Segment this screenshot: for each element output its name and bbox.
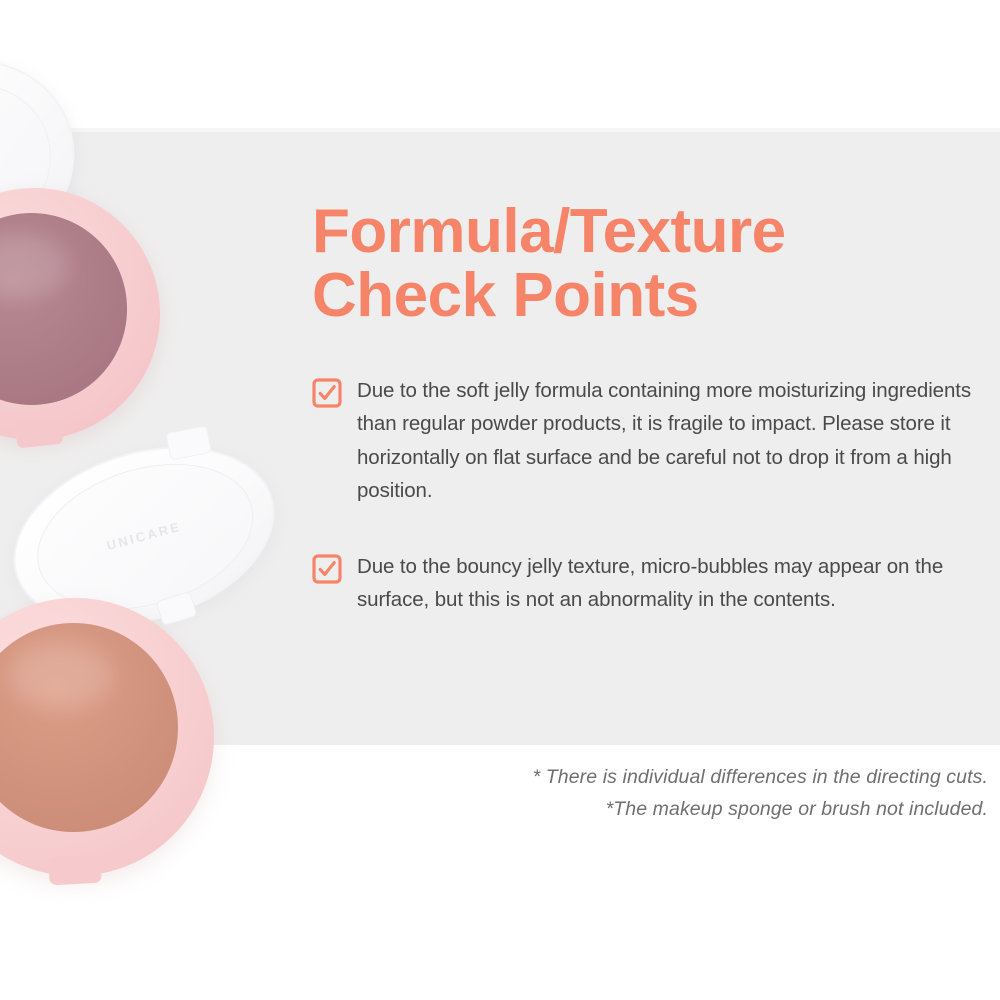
list-item-label: Due to the soft jelly formula containing…	[357, 374, 988, 508]
compact-hinge-notch	[48, 855, 101, 886]
checkbox-checked-icon	[312, 554, 342, 584]
footnote-line: * There is individual differences in the…	[312, 762, 988, 794]
list-item: Due to the bouncy jelly texture, micro-b…	[312, 550, 988, 617]
product-detail-page: UNICARE Formula/Texture Check Points	[0, 0, 1000, 1000]
list-item-label: Due to the bouncy jelly texture, micro-b…	[357, 550, 988, 617]
page-title-line-1: Formula/Texture	[312, 200, 972, 264]
checkbox-checked-icon	[312, 378, 342, 408]
footnote-line: *The makeup sponge or brush not included…	[312, 794, 988, 826]
page-title: Formula/Texture Check Points	[312, 200, 972, 328]
footnotes: * There is individual differences in the…	[312, 762, 988, 825]
content-column: Formula/Texture Check Points Due to the …	[312, 0, 1000, 1000]
list-item: Due to the soft jelly formula containing…	[312, 374, 988, 508]
check-points-list: Due to the soft jelly formula containing…	[312, 374, 988, 658]
page-title-line-2: Check Points	[312, 264, 972, 328]
